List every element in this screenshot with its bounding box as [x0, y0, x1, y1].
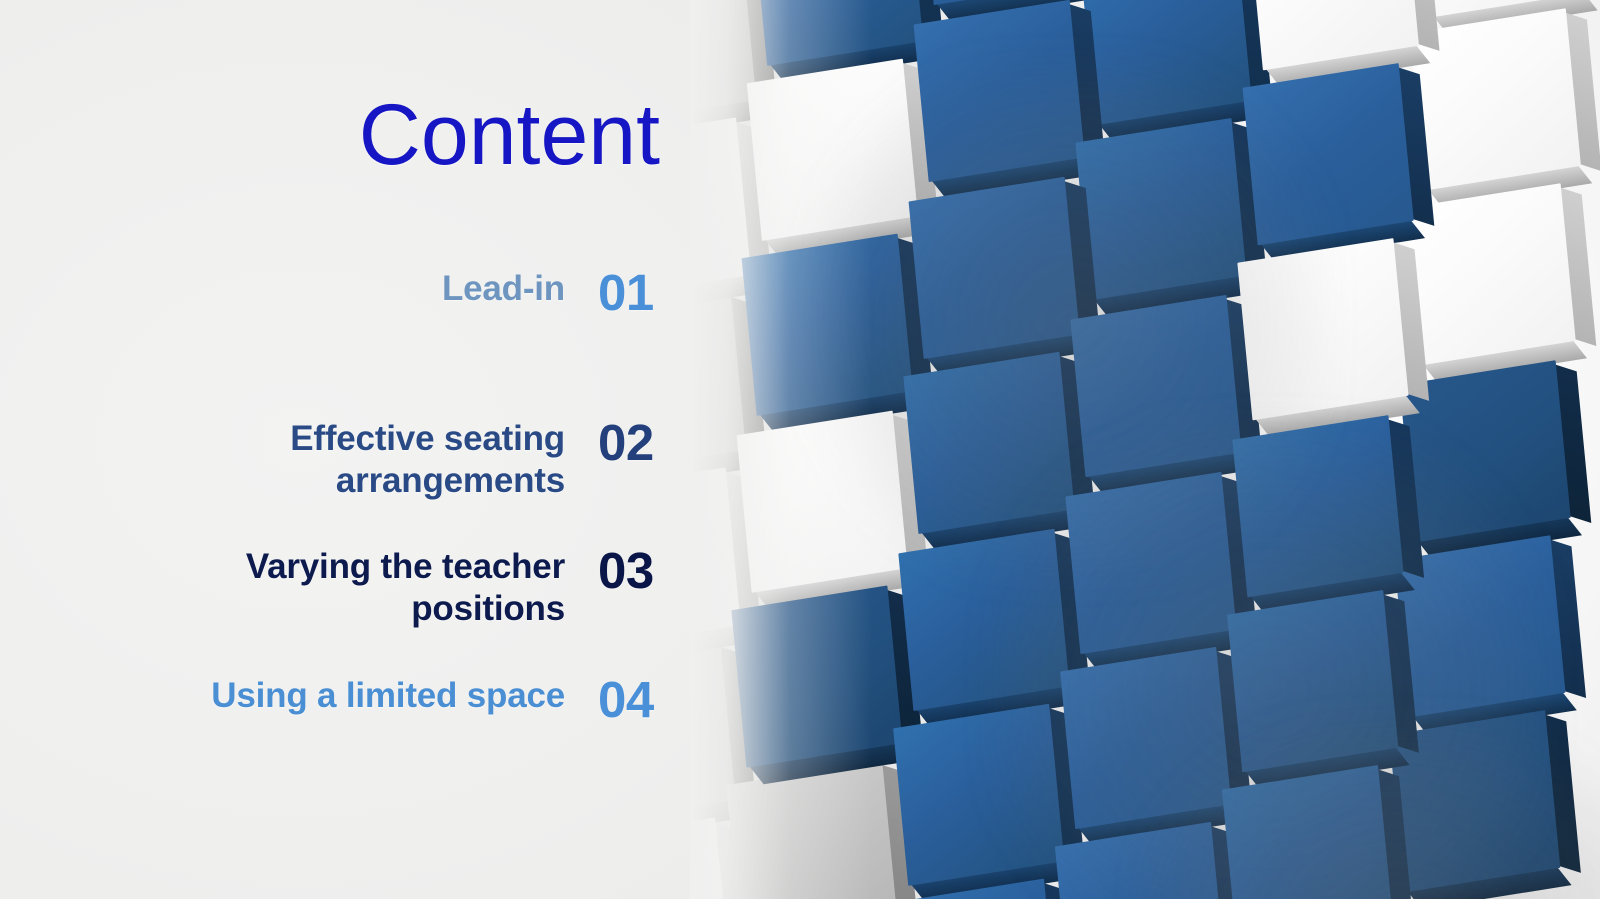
toc-item-label: Lead-in: [165, 268, 565, 310]
toc-item-04[interactable]: Using a limited space 04: [0, 675, 690, 725]
toc-item-number: 04: [565, 675, 690, 725]
toc-item-label: Effective seating arrangements: [165, 418, 565, 502]
toc-item-number: 02: [565, 418, 690, 468]
toc-item-number: 03: [565, 546, 690, 596]
toc-item-number: 01: [565, 268, 690, 318]
toc-item-02[interactable]: Effective seating arrangements 02: [0, 418, 690, 502]
toc-item-label: Varying the teacher positions: [165, 546, 565, 630]
cube-shadow: [1140, 720, 1600, 899]
content-panel: Content Lead-in 01 Effective seating arr…: [0, 0, 690, 899]
toc-item-01[interactable]: Lead-in 01: [0, 268, 690, 318]
cube-gray: [726, 760, 897, 899]
cube-blue: [752, 0, 923, 66]
cube-white: [690, 817, 730, 899]
table-of-contents: Lead-in 01 Effective seating arrangement…: [0, 268, 690, 725]
toc-item-label: Using a limited space: [165, 675, 565, 717]
cube-wall-image: [690, 0, 1600, 899]
cube-blue: [731, 586, 902, 768]
toc-item-03[interactable]: Varying the teacher positions 03: [0, 546, 690, 630]
presentation-slide: Content Lead-in 01 Effective seating arr…: [0, 0, 1600, 899]
cube-gray: [690, 0, 756, 125]
page-title: Content: [0, 92, 660, 178]
